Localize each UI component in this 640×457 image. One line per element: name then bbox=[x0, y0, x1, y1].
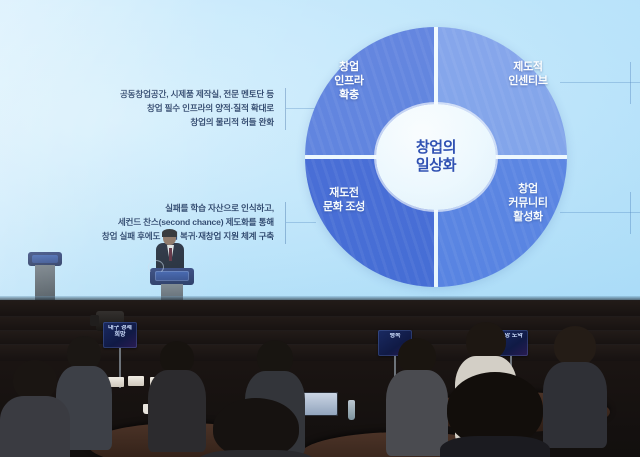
callout-infra-line-2: 창업 필수 인프라의 양적·질적 확대로 bbox=[22, 102, 274, 116]
presenter-hair bbox=[162, 229, 177, 237]
donut-hub-line-2: 일상화 bbox=[416, 157, 456, 175]
callout-retry-line-3: 창업 실패 후에도 학업 복귀·재창업 지원 체계 구축 bbox=[22, 230, 274, 244]
audience-body bbox=[196, 450, 316, 457]
audience-body bbox=[386, 370, 448, 456]
donut-hub-line-1: 창업의 bbox=[416, 139, 456, 157]
donut-label-bottom-right-line-2: 커뮤니티 bbox=[480, 196, 576, 210]
callout-retry-line-2: 세컨드 찬스(second chance) 제도화를 통해 bbox=[22, 216, 274, 230]
projected-slide: 공동창업공간, 시제품 제작실, 전문 멘토단 등 창업 필수 인프라의 양적·… bbox=[0, 0, 640, 300]
audience-head bbox=[67, 336, 101, 370]
callout-retry-bar bbox=[285, 202, 286, 244]
secondary-lectern-plate bbox=[32, 255, 58, 263]
secondary-lectern-column bbox=[35, 265, 55, 300]
callout-infra: 공동창업공간, 시제품 제작실, 전문 멘토단 등 창업 필수 인프라의 양적·… bbox=[22, 88, 274, 130]
audience-head bbox=[466, 322, 506, 360]
audience-head bbox=[447, 372, 543, 446]
audience-member bbox=[386, 338, 448, 454]
donut-label-top-left-line-2: 인프라 bbox=[311, 74, 387, 88]
audience-head bbox=[554, 326, 596, 366]
callout-community-bar bbox=[630, 192, 631, 234]
callout-infra-line-1: 공동창업공간, 시제품 제작실, 전문 멘토단 등 bbox=[22, 88, 274, 102]
conference-photo: 공동창업공간, 시제품 제작실, 전문 멘토단 등 창업 필수 인프라의 양적·… bbox=[0, 0, 640, 457]
donut-label-top-right-line-2: 인센티브 bbox=[480, 74, 576, 88]
water-bottle bbox=[348, 400, 355, 420]
donut-label-bottom-right-line-1: 창업 bbox=[480, 182, 576, 196]
audience-member-foreground bbox=[0, 360, 70, 457]
donut-label-top-left-line-3: 확충 bbox=[311, 88, 387, 102]
callout-infra-bar bbox=[285, 88, 286, 130]
secondary-lectern bbox=[28, 252, 62, 300]
callout-retry-line-1: 실패를 학습 자산으로 인식하고, bbox=[22, 202, 274, 216]
donut-label-top-left-line-1: 창업 bbox=[311, 60, 387, 74]
audience-head bbox=[398, 338, 436, 374]
donut-label-top-right: 제도적 인센티브 bbox=[480, 60, 576, 88]
presenter bbox=[150, 230, 194, 300]
donut-label-bottom-right: 창업 커뮤니티 활성화 bbox=[480, 182, 576, 224]
presenter-tie bbox=[169, 248, 172, 261]
callout-retry: 실패를 학습 자산으로 인식하고, 세컨드 찬스(second chance) … bbox=[22, 202, 274, 244]
audience-member-foreground bbox=[196, 398, 316, 457]
donut-label-bottom-left-line-2: 문화 조성 bbox=[296, 200, 392, 214]
donut-label-bottom-left-line-1: 재도전 bbox=[296, 186, 392, 200]
audience-member bbox=[543, 326, 607, 446]
audience-head bbox=[257, 340, 293, 375]
callout-incentive-bar bbox=[630, 62, 631, 104]
audience-body bbox=[0, 396, 70, 457]
microphone-icon bbox=[148, 260, 164, 274]
camera-lens-icon bbox=[90, 315, 99, 326]
name-card bbox=[128, 376, 144, 386]
audience-member-foreground bbox=[440, 372, 550, 457]
audience-body bbox=[440, 436, 550, 457]
donut-hub: 창업의 일상화 bbox=[376, 104, 496, 210]
audience-head bbox=[213, 398, 299, 457]
donut-label-top-left: 창업 인프라 확충 bbox=[311, 60, 387, 102]
donut-label-bottom-left: 재도전 문화 조성 bbox=[296, 186, 392, 214]
callout-infra-line-3: 창업의 물리적 허들 완화 bbox=[22, 116, 274, 130]
audience-head bbox=[13, 360, 57, 400]
audience-body bbox=[543, 362, 607, 448]
donut-label-top-right-line-1: 제도적 bbox=[480, 60, 576, 74]
donut-label-bottom-right-line-3: 활성화 bbox=[480, 210, 576, 224]
